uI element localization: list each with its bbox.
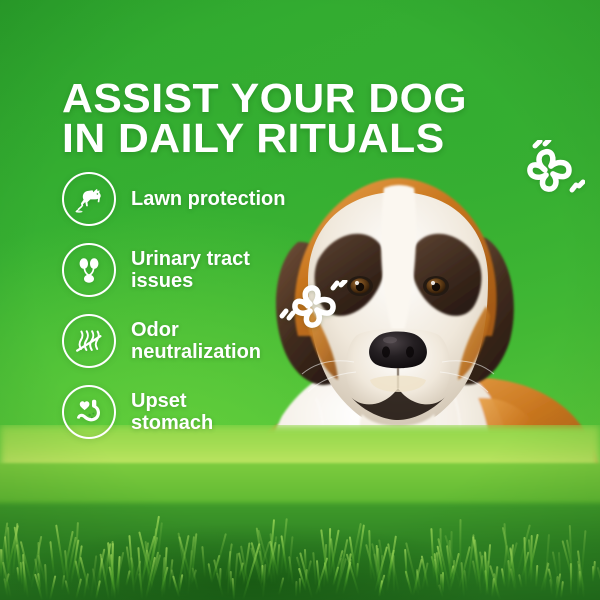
dog-urinating-icon [62,172,116,226]
kidneys-bladder-icon [62,243,116,297]
advertisement-banner: ASSIST YOUR DOG IN DAILY RITUALS Lawn pr… [0,0,600,600]
feature-item-upset-stomach: Upset stomach [62,385,317,439]
feature-item-odor-neutralization: Odor neutralization [62,314,317,368]
feature-item-urinary-tract-issues: Urinary tract issues [62,243,317,297]
page-title: ASSIST YOUR DOG IN DAILY RITUALS [62,79,467,158]
feature-label: Lawn protection [131,188,285,210]
feature-item-lawn-protection: Lawn protection [62,172,317,226]
feature-list: Lawn protection Urinary tract issues [62,172,317,456]
stomach-heart-icon [62,385,116,439]
feature-label: Urinary tract issues [131,248,250,293]
sparkle-motif-top-right [515,140,585,207]
no-odor-icon [62,314,116,368]
feature-label: Upset stomach [131,390,213,435]
feature-label: Odor neutralization [131,319,261,364]
